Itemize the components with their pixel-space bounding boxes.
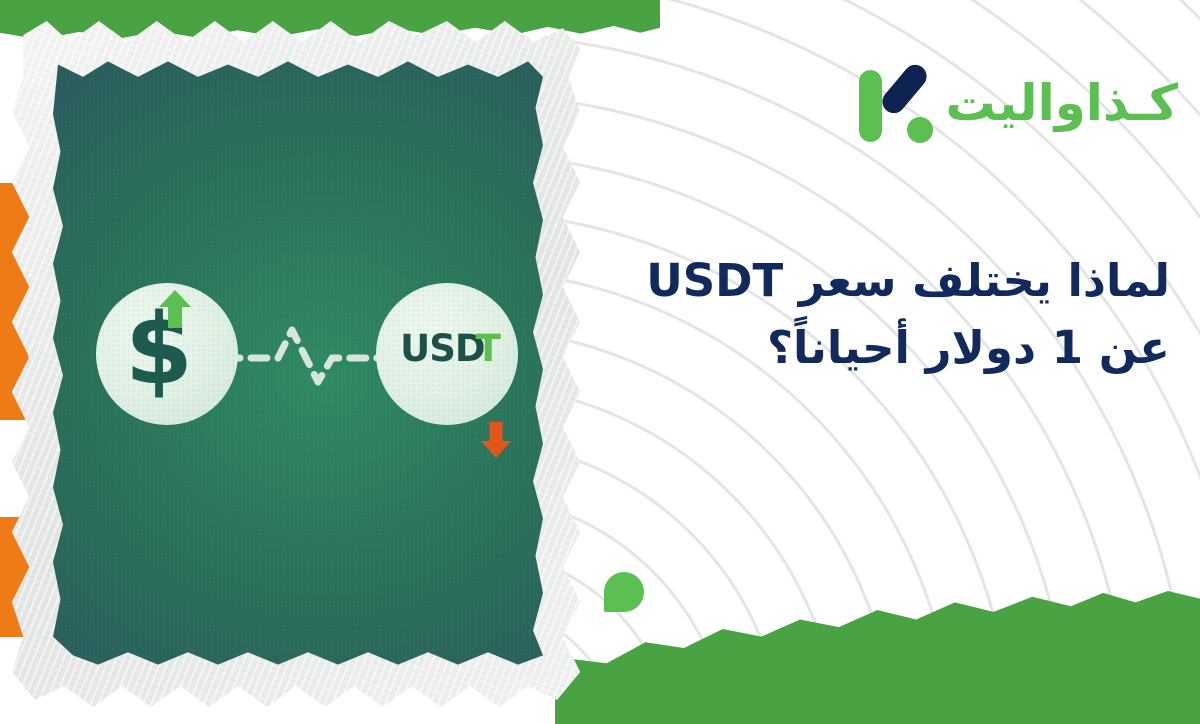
green-blob-accent <box>604 572 644 612</box>
dashed-volatility-line <box>222 308 394 400</box>
usdt-coin: USDT <box>376 283 518 425</box>
headline-line-1: لماذا يختلف سعر USDT <box>646 254 1170 307</box>
brand-logo[interactable]: كـذاواليت <box>857 62 1178 144</box>
page-title: لماذا يختلف سعر USDT عن 1 دولار أحياناً؟ <box>610 248 1170 381</box>
usdt-label-main: USD <box>400 327 484 370</box>
usdt-label-accent: T <box>476 327 500 370</box>
headline-line-2: عن 1 دولار أحياناً؟ <box>610 315 1170 382</box>
brand-name: كـذاواليت <box>945 78 1178 128</box>
usdt-label: USDT <box>400 327 500 370</box>
k-logo-mark-icon <box>857 62 935 144</box>
banner-canvas: $ USDT كـذاواليت لماذا ي <box>0 0 1200 724</box>
dollar-coin: $ <box>96 283 238 425</box>
